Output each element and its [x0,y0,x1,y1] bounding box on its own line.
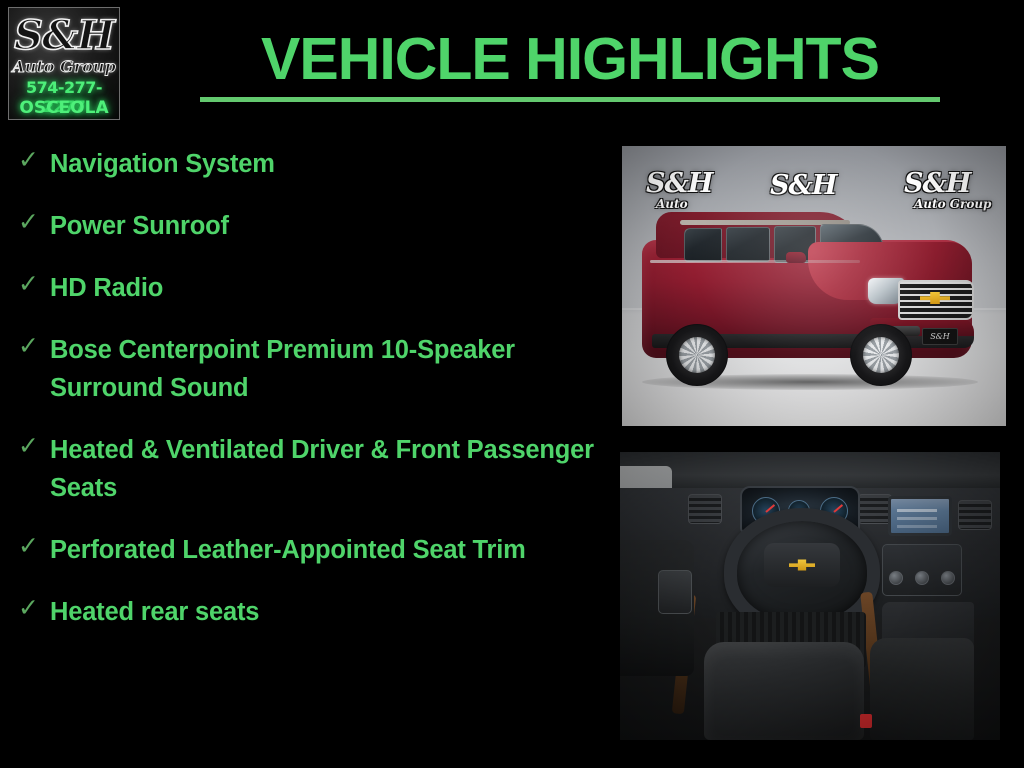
dealer-city: OSCEOLA [9,98,119,118]
list-item-label: HD Radio [50,269,610,307]
list-item-label: Navigation System [50,145,610,183]
list-item: ✓ Perforated Leather-Appointed Seat Trim [10,531,610,569]
list-item: ✓ Navigation System [10,145,610,183]
list-item-label: Heated rear seats [50,593,610,631]
list-item: ✓ Heated rear seats [10,593,610,631]
list-item-label: Power Sunroof [50,207,610,245]
check-icon: ✓ [10,145,50,175]
photo-vignette [620,452,1000,740]
dealer-logo: S&H Auto Group 574-277-2277 OSCEOLA [8,7,120,120]
check-icon: ✓ [10,531,50,561]
list-item-label: Bose Centerpoint Premium 10-Speaker Surr… [50,331,610,407]
check-icon: ✓ [10,431,50,461]
list-item-label: Perforated Leather-Appointed Seat Trim [50,531,610,569]
list-item: ✓ Heated & Ventilated Driver & Front Pas… [10,431,610,507]
dealer-logo-name: S&H [9,14,119,58]
page-title-text: VEHICLE HIGHLIGHTS [261,28,879,91]
vehicle-highlights-list: ✓ Navigation System ✓ Power Sunroof ✓ HD… [10,145,610,655]
dealer-logo-subtitle: Auto Group [9,58,119,76]
list-item: ✓ Power Sunroof [10,207,610,245]
vehicle-exterior-photo: S&H S&H Auto S&H S&H Auto Group [622,146,1006,426]
photo-vignette [622,146,1006,426]
title-underline [200,97,940,102]
check-icon: ✓ [10,269,50,299]
check-icon: ✓ [10,593,50,623]
list-item: ✓ Bose Centerpoint Premium 10-Speaker Su… [10,331,610,407]
list-item: ✓ HD Radio [10,269,610,307]
check-icon: ✓ [10,331,50,361]
page-title: VEHICLE HIGHLIGHTS [150,28,990,102]
check-icon: ✓ [10,207,50,237]
vehicle-interior-photo [620,452,1000,740]
list-item-label: Heated & Ventilated Driver & Front Passe… [50,431,610,507]
